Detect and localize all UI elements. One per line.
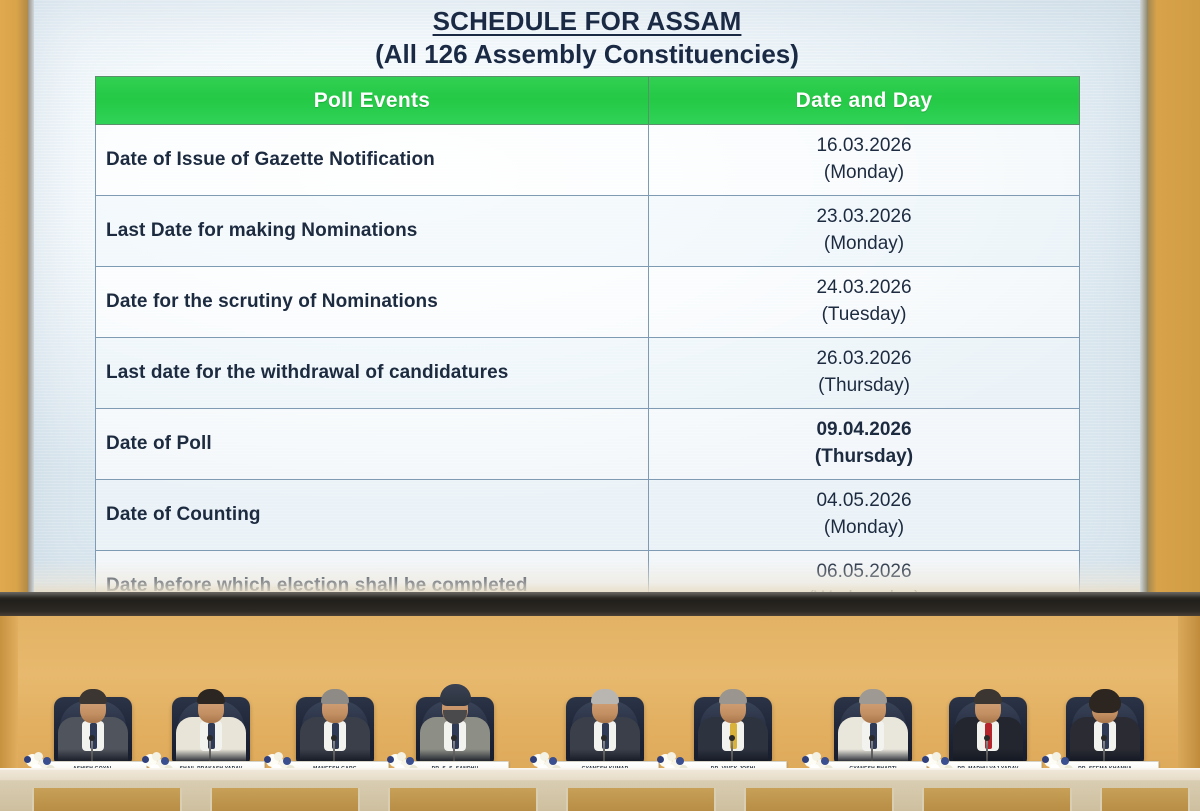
panelist-head — [198, 693, 224, 723]
hair — [197, 689, 225, 704]
flower — [406, 757, 414, 765]
dais-panel — [1100, 788, 1190, 811]
dais-panel — [566, 788, 716, 811]
flower — [676, 757, 684, 765]
flower — [1052, 752, 1061, 761]
flower — [24, 756, 31, 763]
flower — [802, 756, 809, 763]
cell-poll-event: Last Date for making Nominations — [96, 195, 649, 266]
flower — [667, 752, 676, 761]
flower — [283, 757, 291, 765]
cell-poll-event: Date of Counting — [96, 479, 649, 550]
panelist-head — [592, 693, 618, 723]
panelist-head — [80, 693, 106, 723]
flower — [142, 756, 149, 763]
hair — [591, 689, 619, 704]
cell-date: 26.03.2026 — [653, 346, 1075, 373]
table-row: Date of Counting04.05.2026(Monday) — [96, 479, 1080, 550]
flower — [387, 756, 394, 763]
column-header-poll-events: Poll Events — [96, 77, 649, 125]
flower — [932, 752, 941, 761]
slide-title-block: SCHEDULE FOR ASSAM (All 126 Assembly Con… — [34, 6, 1140, 70]
dais-panel — [744, 788, 894, 811]
dais-panel — [922, 788, 1072, 811]
cell-date-and-day: 26.03.2026(Thursday) — [649, 337, 1080, 408]
cell-day: (Monday) — [653, 160, 1075, 187]
table-row: Date for the scrutiny of Nominations24.0… — [96, 266, 1080, 337]
flower — [264, 756, 271, 763]
wall-left — [0, 0, 28, 600]
flower — [397, 752, 406, 761]
panelist-head — [860, 693, 886, 723]
flower — [43, 757, 51, 765]
cell-date-and-day: 04.05.2026(Monday) — [649, 479, 1080, 550]
cell-poll-event: Date of Issue of Gazette Notification — [96, 125, 649, 196]
flower — [812, 752, 821, 761]
hair — [719, 689, 747, 704]
table-header-row: Poll Events Date and Day — [96, 77, 1080, 125]
panelist-head — [442, 693, 468, 723]
cell-poll-event: Date for the scrutiny of Nominations — [96, 266, 649, 337]
schedule-table-wrapper: Poll Events Date and Day Date of Issue o… — [95, 76, 1079, 622]
column-header-date-and-day: Date and Day — [649, 77, 1080, 125]
table-row: Date of Poll09.04.2026(Thursday) — [96, 408, 1080, 479]
slide-subtitle: (All 126 Assembly Constituencies) — [34, 39, 1140, 70]
flower — [152, 752, 161, 761]
panelist-head — [322, 693, 348, 723]
table-row: Last Date for making Nominations23.03.20… — [96, 195, 1080, 266]
panelist-head — [720, 693, 746, 723]
table-row: Date of Issue of Gazette Notification16.… — [96, 125, 1080, 196]
cell-date: 24.03.2026 — [653, 275, 1075, 302]
flower — [161, 757, 169, 765]
cell-date-and-day: 09.04.2026(Thursday) — [649, 408, 1080, 479]
panelist-head — [975, 693, 1001, 723]
flower — [657, 756, 664, 763]
cell-day: (Thursday) — [653, 373, 1075, 400]
cell-date-and-day: 24.03.2026(Tuesday) — [649, 266, 1080, 337]
screen-bottom-shadow — [34, 560, 1140, 592]
cell-day: (Thursday) — [653, 444, 1075, 471]
cell-date: 23.03.2026 — [653, 204, 1075, 231]
hair — [79, 689, 107, 704]
panelist-head — [1092, 693, 1118, 723]
flower — [922, 756, 929, 763]
dais-panel — [32, 788, 182, 811]
cell-day: (Monday) — [653, 515, 1075, 542]
cell-date-and-day: 16.03.2026(Monday) — [649, 125, 1080, 196]
flower — [1042, 756, 1049, 763]
band-sheen — [0, 592, 1200, 598]
hair — [1089, 689, 1121, 713]
flower — [821, 757, 829, 765]
table-row: Last date for the withdrawal of candidat… — [96, 337, 1080, 408]
slide-title: SCHEDULE FOR ASSAM — [34, 6, 1140, 37]
flower — [941, 757, 949, 765]
flower — [274, 752, 283, 761]
cell-date: 09.04.2026 — [653, 417, 1075, 444]
cell-poll-event: Date of Poll — [96, 408, 649, 479]
hair — [321, 689, 349, 704]
cell-date-and-day: 23.03.2026(Monday) — [649, 195, 1080, 266]
flower — [530, 756, 537, 763]
cell-date: 04.05.2026 — [653, 488, 1075, 515]
dais-panel — [210, 788, 360, 811]
cell-poll-event: Last date for the withdrawal of candidat… — [96, 337, 649, 408]
dais-panel — [388, 788, 538, 811]
wall-edge-right — [1140, 0, 1148, 600]
cell-date: 16.03.2026 — [653, 133, 1075, 160]
flower — [34, 752, 43, 761]
flower — [1061, 757, 1069, 765]
schedule-table: Poll Events Date and Day Date of Issue o… — [95, 76, 1080, 622]
schedule-slide: SCHEDULE FOR ASSAM (All 126 Assembly Con… — [34, 0, 1140, 592]
cell-day: (Monday) — [653, 231, 1075, 258]
flower — [549, 757, 557, 765]
wall-right — [1147, 0, 1200, 600]
hair — [859, 689, 887, 704]
cell-day: (Tuesday) — [653, 302, 1075, 329]
turban — [440, 684, 471, 706]
press-conference-scene: SCHEDULE FOR ASSAM (All 126 Assembly Con… — [0, 0, 1200, 811]
flower — [540, 752, 549, 761]
hair — [974, 689, 1002, 704]
